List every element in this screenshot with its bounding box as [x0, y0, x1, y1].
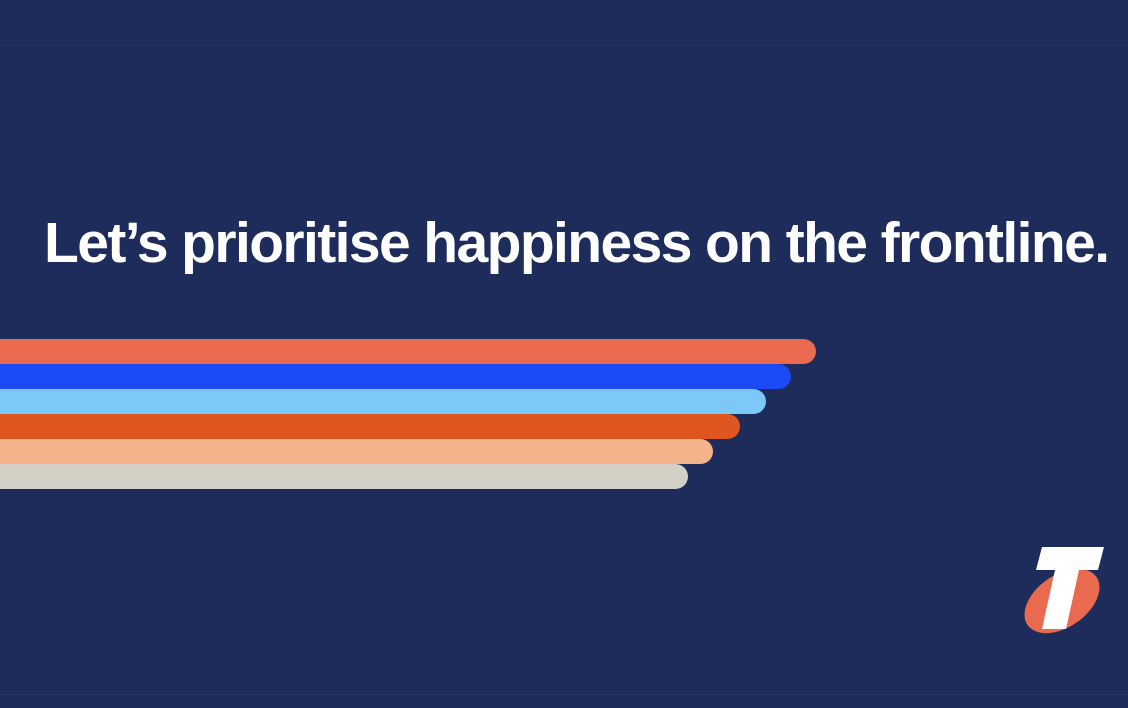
bar-blue — [0, 364, 791, 389]
page-title: Let’s prioritise happiness on the frontl… — [44, 212, 1084, 276]
bar-stone — [0, 464, 688, 489]
speed-stripes-graphic — [0, 339, 1128, 489]
slide-canvas: Let’s prioritise happiness on the frontl… — [0, 0, 1128, 708]
telstra-logo-mark — [1016, 543, 1108, 637]
headline-container: Let’s prioritise happiness on the frontl… — [0, 212, 1128, 276]
bar-orange — [0, 414, 740, 439]
bar-coral — [0, 339, 816, 364]
bar-peach — [0, 439, 713, 464]
bottom-divider — [0, 694, 1128, 695]
telstra-logo — [1016, 543, 1108, 637]
top-divider — [0, 45, 1128, 46]
bar-sky — [0, 389, 766, 414]
